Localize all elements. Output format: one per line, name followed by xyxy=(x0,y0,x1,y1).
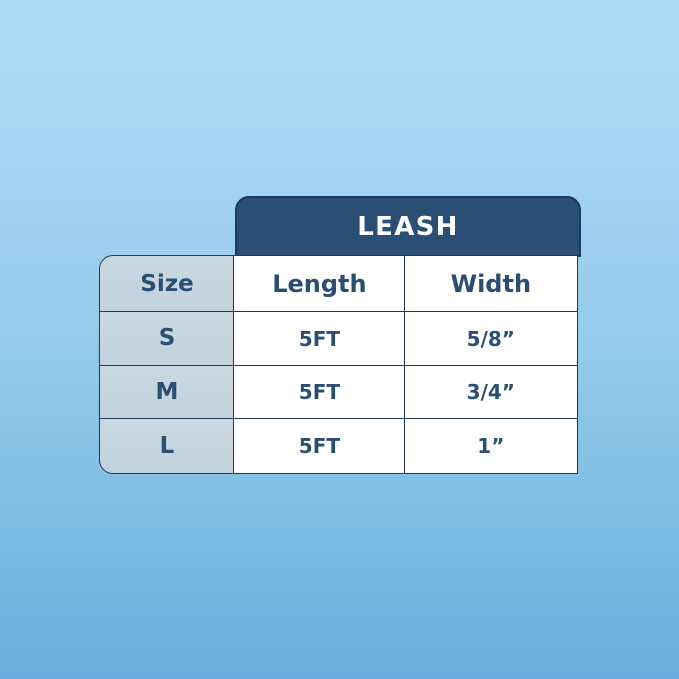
chart-title-banner: LEASH xyxy=(235,196,581,257)
column-header-size: Size xyxy=(99,255,235,313)
leash-size-chart: LEASH Size Length Width S 5FT 5/8” M 5FT… xyxy=(99,196,581,479)
cell-size-m: M xyxy=(99,365,235,420)
table-row: L 5FT 1” xyxy=(99,418,581,474)
table-header-row: Size Length Width xyxy=(99,255,581,313)
cell-length-l: 5FT xyxy=(233,418,405,474)
table-row: M 5FT 3/4” xyxy=(99,365,581,420)
table-row: S 5FT 5/8” xyxy=(99,311,581,366)
cell-width-l: 1” xyxy=(404,418,578,474)
size-chart-table: Size Length Width S 5FT 5/8” M 5FT 3/4” … xyxy=(99,255,581,479)
cell-width-m: 3/4” xyxy=(404,365,578,420)
size-chart-canvas: LEASH Size Length Width S 5FT 5/8” M 5FT… xyxy=(0,0,679,679)
cell-width-s: 5/8” xyxy=(404,311,578,366)
cell-size-l: L xyxy=(99,418,235,474)
cell-length-m: 5FT xyxy=(233,365,405,420)
column-header-length: Length xyxy=(233,255,405,313)
cell-size-s: S xyxy=(99,311,235,366)
column-header-width: Width xyxy=(404,255,578,313)
cell-length-s: 5FT xyxy=(233,311,405,366)
chart-title-text: LEASH xyxy=(357,214,458,240)
